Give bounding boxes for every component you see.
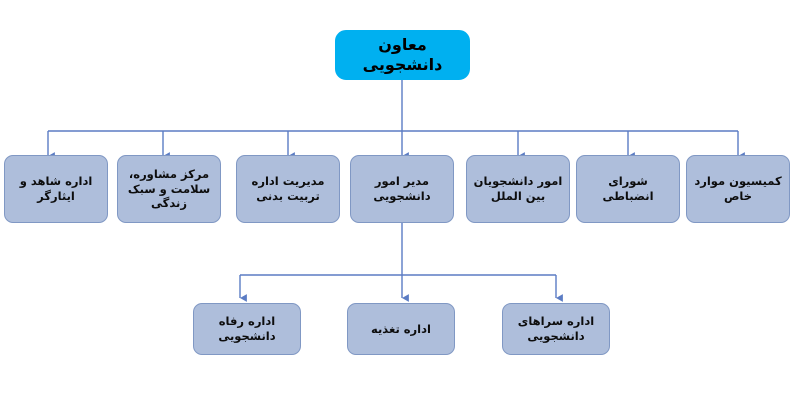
node-root-label: معاون دانشجویی — [336, 35, 469, 76]
node-modiriyat-edare-tarbiat-badani[interactable]: مدیریت اداره تربیت بدنی — [236, 155, 340, 223]
node-modir-omur-daneshjooyi[interactable]: مدیر امور دانشجویی — [350, 155, 454, 223]
node-label: شورای انضباطی — [577, 174, 679, 203]
node-label: مدیر امور دانشجویی — [351, 174, 453, 203]
node-label: اداره شاهد و ایثارگر — [5, 174, 107, 203]
node-edare-refah-daneshjooyi[interactable]: اداره رفاه دانشجویی — [193, 303, 301, 355]
node-label: مدیریت اداره تربیت بدنی — [237, 174, 339, 203]
node-komisiyon-mavared-khas[interactable]: کمیسیون موارد خاص — [686, 155, 790, 223]
node-markaz-moshavere-salamat-sabk-zendegi[interactable]: مرکز مشاوره، سلامت و سبک زندگی — [117, 155, 221, 223]
node-label: مرکز مشاوره، سلامت و سبک زندگی — [118, 167, 220, 211]
org-chart: معاون دانشجویی اداره شاهد و ایثارگر مرکز… — [0, 0, 800, 400]
node-omur-daneshjooyan-beynolmelal[interactable]: امور دانشجویان بین الملل — [466, 155, 570, 223]
node-shoraye-enzebati[interactable]: شورای انضباطی — [576, 155, 680, 223]
node-label: اداره سراهای دانشجویی — [503, 314, 609, 343]
node-root[interactable]: معاون دانشجویی — [335, 30, 470, 80]
node-label: امور دانشجویان بین الملل — [467, 174, 569, 203]
node-label: اداره رفاه دانشجویی — [194, 314, 300, 343]
node-edare-shahed-va-isargar[interactable]: اداره شاهد و ایثارگر — [4, 155, 108, 223]
node-edare-saraye-daneshjooyi[interactable]: اداره سراهای دانشجویی — [502, 303, 610, 355]
node-edare-taghzie[interactable]: اداره تغذیه — [347, 303, 455, 355]
node-label: اداره تغذیه — [348, 322, 454, 337]
node-label: کمیسیون موارد خاص — [687, 174, 789, 203]
